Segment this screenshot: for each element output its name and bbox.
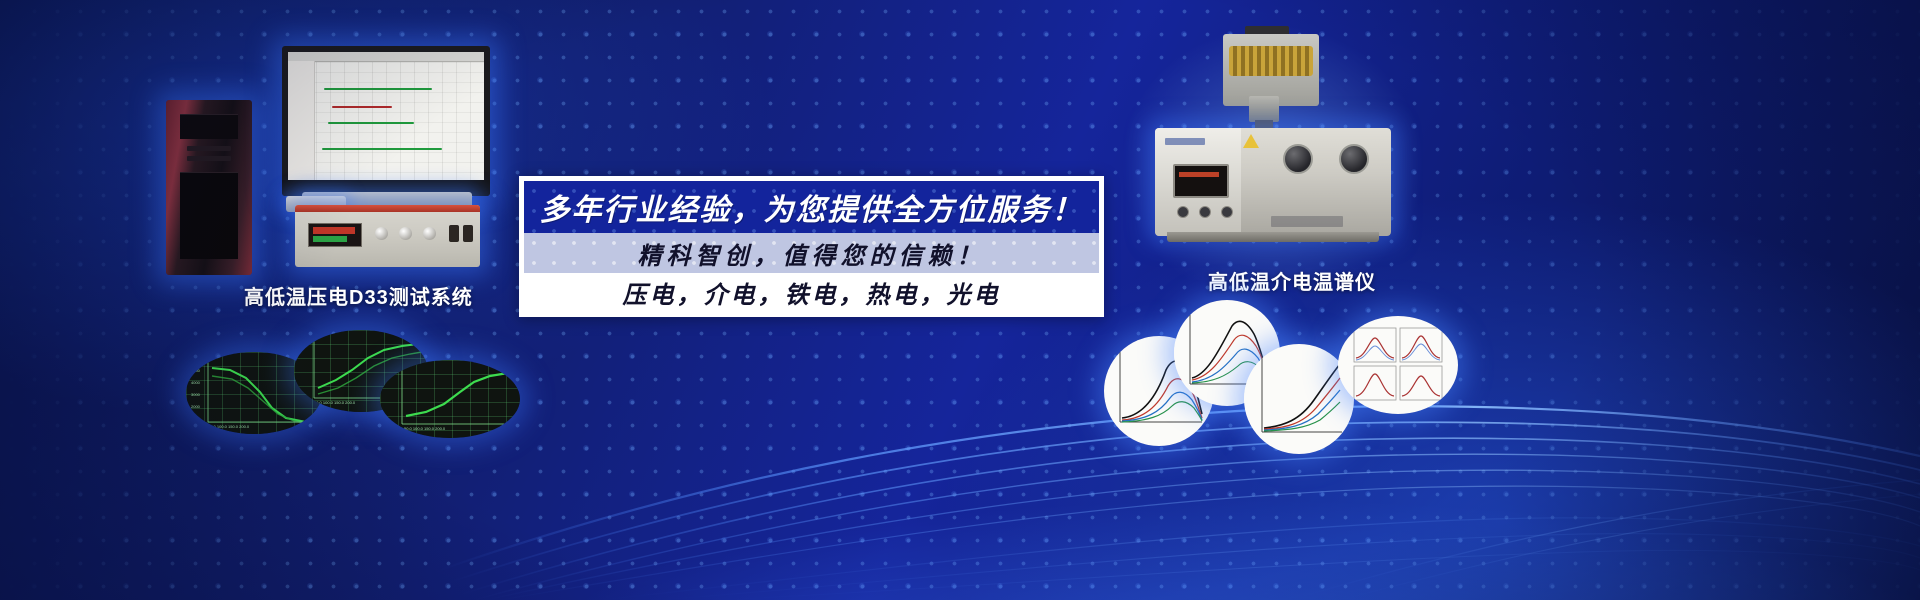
pc-tower-photo — [166, 100, 252, 275]
right-product-caption: 高低温介电温谱仪 — [1208, 266, 1376, 295]
message-line-3-row: 压电，介电，铁电，热电，光电 — [524, 273, 1099, 312]
left-product-caption: 高低温压电D33测试系统 — [244, 281, 473, 310]
message-line-1-row: 多年行业经验，为您提供全方位服务！ — [524, 181, 1099, 233]
oval-chart-thumbnail-3: 50.0 100.0 150.0 200.0 — [380, 360, 520, 438]
message-line-3: 压电，介电，铁电，热电，光电 — [623, 275, 1001, 310]
promo-banner: 高低温压电D33测试系统 5000 4000 3000 2000 50.0 10… — [0, 0, 1920, 600]
message-line-1: 多年行业经验，为您提供全方位服务！ — [540, 185, 1084, 229]
circle-chart-thumbnail-4 — [1338, 316, 1458, 414]
wave-lines-decoration — [0, 270, 1920, 600]
monitor-photo — [282, 46, 490, 196]
message-line-2-row: 精科智创，值得您的信赖！ — [524, 233, 1099, 273]
right-product-photo — [1133, 34, 1411, 272]
message-panel: 多年行业经验，为您提供全方位服务！ 精科智创，值得您的信赖！ 压电，介电，铁电，… — [519, 176, 1104, 317]
instrument-chassis-photo — [295, 205, 480, 267]
message-line-2: 精科智创，值得您的信赖！ — [638, 236, 986, 271]
